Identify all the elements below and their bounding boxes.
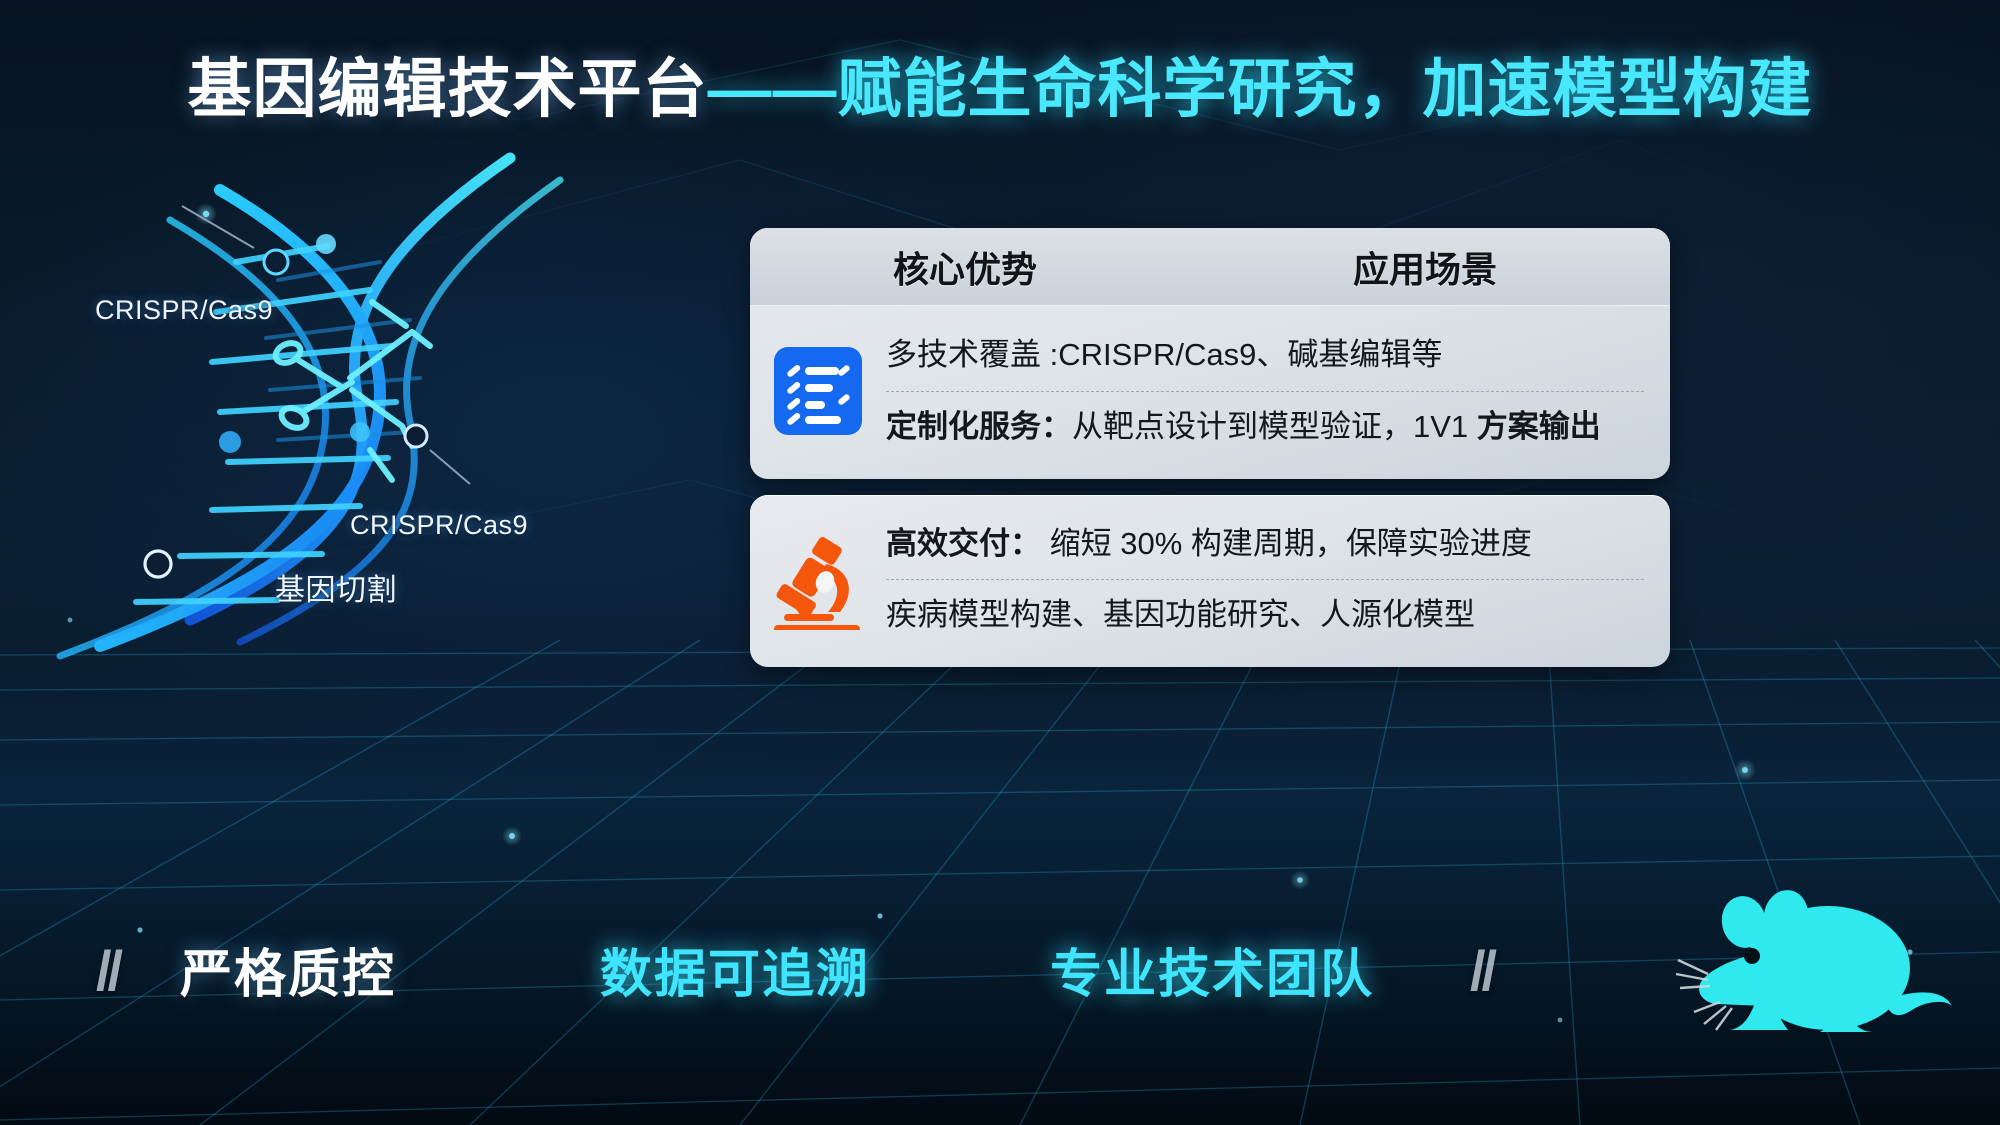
document-list-icon <box>772 345 864 437</box>
dna-label-gene-cut: 基因切割 <box>275 565 397 609</box>
info-card-group: 核心优势 应用场景 <box>750 228 1670 667</box>
card-row-2-tail: 方案输出 <box>1477 409 1601 444</box>
card-row-4-text: 疾病模型构建、基因功能研究、人源化模型 <box>886 597 1475 632</box>
microscope-icon <box>770 530 866 630</box>
card-row-1-text: 多技术覆盖 :CRISPR/Cas9、碱基编辑等 <box>886 337 1442 372</box>
card-row-3: 高效交付： 缩短 30% 构建周期，保障实验进度 <box>886 509 1644 580</box>
dna-illustration: CRISPR/Cas9 CRISPR/Cas9 基因切割 <box>40 150 660 670</box>
card-icon-slot <box>750 345 886 437</box>
page-title-main: 基因编辑技术平台 <box>188 53 708 125</box>
card-body: 多技术覆盖 :CRISPR/Cas9、碱基编辑等 定制化服务：从靶点设计到模型验… <box>750 306 1670 479</box>
card-icon-slot <box>750 530 886 630</box>
slide-canvas: 基因编辑技术平台——赋能生命科学研究，加速模型构建 <box>0 0 2000 1125</box>
page-title-highlight: 赋能生命科学研究，加速模型构建 <box>838 53 1813 125</box>
column-header-application-scenario: 应用场景 <box>1180 241 1670 293</box>
card-rows: 高效交付： 缩短 30% 构建周期，保障实验进度 疾病模型构建、基因功能研究、人… <box>886 509 1670 652</box>
highlight-item-professional-team: 专业技术团队 <box>1050 932 1374 1007</box>
card-row-4: 疾病模型构建、基因功能研究、人源化模型 <box>886 579 1644 651</box>
card-body: 高效交付： 缩短 30% 构建周期，保障实验进度 疾病模型构建、基因功能研究、人… <box>750 495 1670 668</box>
dna-label-crispr-bottom: CRISPR/Cas9 <box>350 510 528 541</box>
card-row-3-bold: 高效交付： <box>886 526 1041 561</box>
page-title-dash: —— <box>708 53 838 125</box>
lab-mouse-icon <box>1660 860 1960 1060</box>
card-row-3-text: 缩短 30% 构建周期，保障实验进度 <box>1041 526 1532 561</box>
mascot-container <box>1660 860 1960 1060</box>
slash-left-icon: // <box>96 938 119 1003</box>
column-header-core-advantage: 核心优势 <box>750 241 1180 293</box>
card-row-1: 多技术覆盖 :CRISPR/Cas9、碱基编辑等 <box>886 320 1644 391</box>
card-row-2-text: 从靶点设计到模型验证，1V1 <box>1072 409 1477 444</box>
page-title: 基因编辑技术平台——赋能生命科学研究，加速模型构建 <box>0 38 2000 130</box>
card-application-scenario[interactable]: 高效交付： 缩短 30% 构建周期，保障实验进度 疾病模型构建、基因功能研究、人… <box>750 495 1670 668</box>
card-row-2: 定制化服务：从靶点设计到模型验证，1V1 方案输出 <box>886 391 1644 463</box>
highlight-item-data-traceable: 数据可追溯 <box>600 932 870 1007</box>
card-header-row: 核心优势 应用场景 <box>750 228 1670 306</box>
slash-right-icon: // <box>1470 938 1493 1003</box>
card-rows: 多技术覆盖 :CRISPR/Cas9、碱基编辑等 定制化服务：从靶点设计到模型验… <box>886 320 1670 463</box>
card-row-2-bold: 定制化服务： <box>886 409 1072 444</box>
card-core-advantage[interactable]: 核心优势 应用场景 <box>750 228 1670 479</box>
dna-label-crispr-top: CRISPR/Cas9 <box>95 295 273 326</box>
highlight-item-quality-control: 严格质控 <box>180 932 396 1007</box>
